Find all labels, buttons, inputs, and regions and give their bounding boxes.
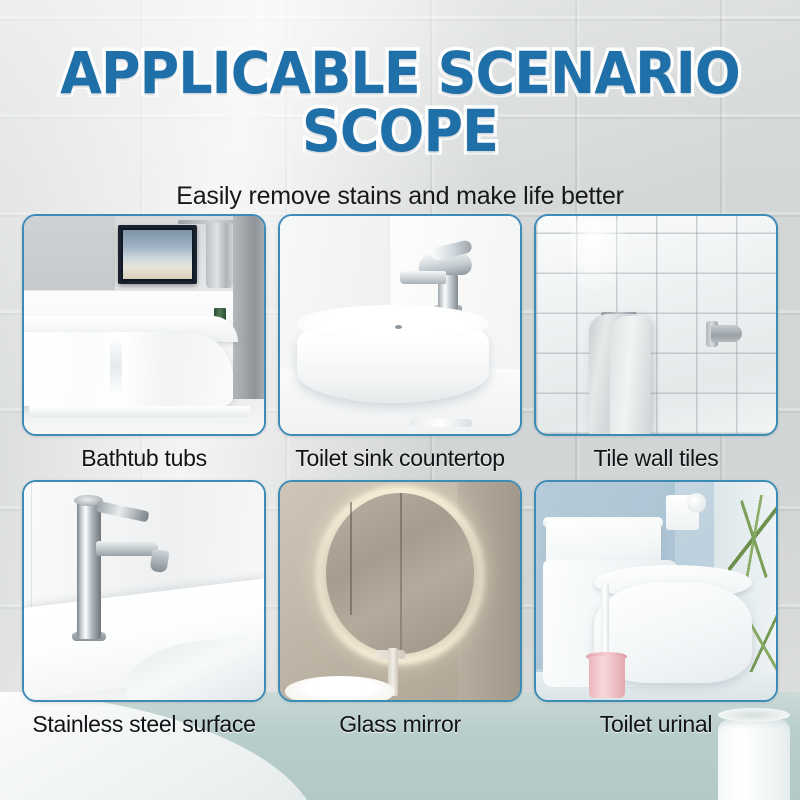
bathtub-base bbox=[29, 406, 250, 417]
mirror-reflection-line-secondary bbox=[350, 502, 352, 615]
faucet-spout-arm bbox=[96, 541, 158, 556]
bathtub-highlight bbox=[110, 338, 122, 395]
mirror-reflection-line bbox=[400, 493, 402, 654]
scenario-card-toilet-sink-countertop[interactable]: Toilet sink countertop bbox=[278, 214, 522, 472]
scenario-label-toilet-urinal: Toilet urinal bbox=[600, 711, 712, 738]
hanging-towel-fold bbox=[610, 316, 651, 436]
mirror-scene bbox=[280, 482, 520, 700]
scenario-label-tile-wall-tiles: Tile wall tiles bbox=[593, 445, 718, 472]
page-title: APPLICABLE SCENARIO SCOPE bbox=[28, 44, 772, 160]
tall-faucet-column bbox=[77, 499, 101, 639]
bathtub-hanging-towel bbox=[206, 223, 232, 288]
tiled-wall-towel-photo[interactable] bbox=[534, 214, 778, 436]
vessel-sink-scene bbox=[280, 216, 520, 434]
scenario-grid: Bathtub tubs Toilet sink countertop bbox=[22, 214, 778, 738]
plant-leaves-top bbox=[728, 495, 778, 582]
faucet-spout bbox=[400, 271, 446, 284]
scenario-card-bathtub-tubs[interactable]: Bathtub tubs bbox=[22, 214, 266, 472]
steel-faucet-photo[interactable] bbox=[22, 480, 266, 702]
bathtub-wall-tv bbox=[118, 225, 197, 284]
header-block: APPLICABLE SCENARIO SCOPE Easily remove … bbox=[0, 44, 800, 211]
steel-faucet-scene bbox=[24, 482, 264, 700]
scenario-label-stainless-steel-surface: Stainless steel surface bbox=[32, 711, 255, 738]
scenario-card-tile-wall-tiles[interactable]: Tile wall tiles bbox=[534, 214, 778, 472]
wall-hook bbox=[711, 325, 742, 342]
scenario-card-stainless-steel-surface[interactable]: Stainless steel surface bbox=[22, 480, 266, 738]
bathtub-photo[interactable] bbox=[22, 214, 266, 436]
scenario-label-glass-mirror: Glass mirror bbox=[339, 711, 461, 738]
round-backlit-mirror-photo[interactable] bbox=[278, 480, 522, 702]
page-subtitle: Easily remove stains and make life bette… bbox=[0, 182, 800, 211]
toilet-brush-holder bbox=[589, 656, 625, 697]
bathtub-scene bbox=[24, 216, 264, 434]
bathtub-side-wall bbox=[233, 216, 264, 403]
countertop-item bbox=[410, 419, 472, 428]
vessel-sink-photo[interactable] bbox=[278, 214, 522, 436]
scenario-label-bathtub-tubs: Bathtub tubs bbox=[81, 445, 207, 472]
toilet-scene bbox=[536, 482, 776, 700]
tile-light-reflection bbox=[570, 220, 632, 294]
scenario-card-glass-mirror[interactable]: Glass mirror bbox=[278, 480, 522, 738]
toilet-paper-holder-knob bbox=[687, 493, 706, 513]
scenario-card-toilet-urinal[interactable]: Toilet urinal bbox=[534, 480, 778, 738]
steel-scene-wall-edge bbox=[31, 482, 32, 626]
tv-screen-image bbox=[123, 230, 192, 279]
bathtub-body bbox=[22, 332, 233, 406]
mirror-scene-sink bbox=[285, 676, 395, 702]
scenario-label-toilet-sink-countertop: Toilet sink countertop bbox=[295, 445, 504, 472]
tiled-wall-scene bbox=[536, 216, 776, 434]
toilet-brush-photo[interactable] bbox=[534, 480, 778, 702]
